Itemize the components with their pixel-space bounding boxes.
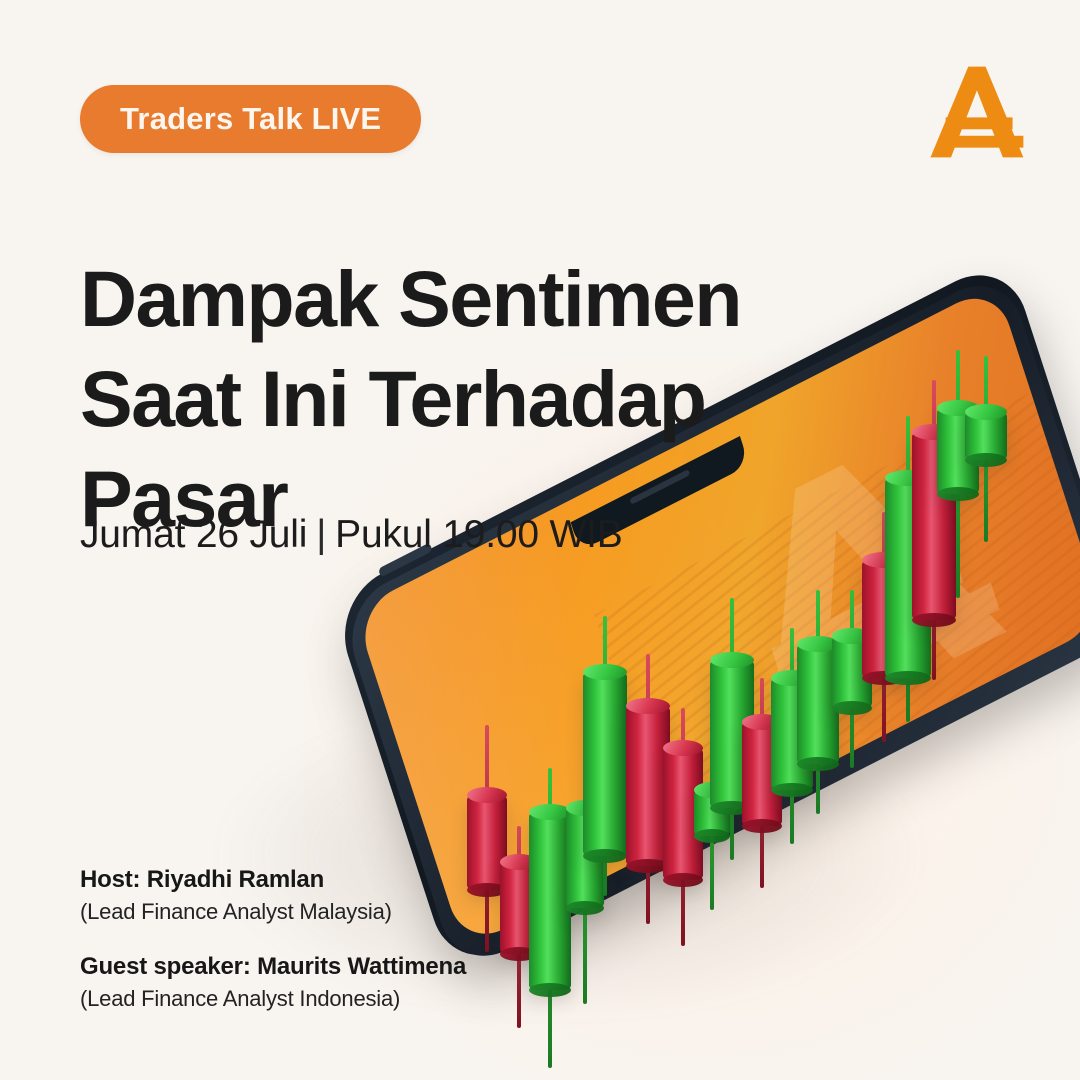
candle-top bbox=[663, 740, 703, 756]
promo-poster: Traders Talk LIVE Dampak Sentimen Saat I… bbox=[0, 0, 1080, 1080]
credits: Host: Riyadhi Ramlan (Lead Finance Analy… bbox=[80, 866, 466, 1040]
candle-body bbox=[529, 812, 571, 990]
candle-base bbox=[583, 849, 627, 863]
credit-guest-name: Guest speaker: Maurits Wattimena bbox=[80, 953, 466, 981]
candle-base bbox=[965, 453, 1007, 467]
candlestick-up bbox=[529, 768, 571, 1068]
headline-line-2: Saat Ini Terhadap bbox=[80, 349, 840, 449]
candle-top bbox=[529, 804, 571, 820]
candlestick-up bbox=[583, 616, 627, 896]
candle-top bbox=[710, 652, 754, 668]
credit-host-name: Host: Riyadhi Ramlan bbox=[80, 866, 466, 894]
schedule-line: Jumat 26 Juli|Pukul 19.00 WIB bbox=[80, 513, 623, 557]
candle-top bbox=[965, 404, 1007, 420]
candle-body bbox=[965, 412, 1007, 460]
headline-line-1: Dampak Sentimen bbox=[80, 249, 840, 349]
ascendex-a-logo-icon bbox=[924, 58, 1032, 166]
candle-base bbox=[566, 901, 604, 915]
credit-guest: Guest speaker: Maurits Wattimena (Lead F… bbox=[80, 953, 466, 1012]
candle-base bbox=[912, 613, 956, 627]
credit-host: Host: Riyadhi Ramlan (Lead Finance Analy… bbox=[80, 866, 466, 925]
live-badge-label: Traders Talk LIVE bbox=[120, 101, 381, 137]
credit-guest-role: (Lead Finance Analyst Indonesia) bbox=[80, 986, 466, 1012]
candle-base bbox=[529, 983, 571, 997]
candle-top bbox=[467, 787, 507, 803]
live-badge: Traders Talk LIVE bbox=[80, 85, 421, 153]
credit-host-role: (Lead Finance Analyst Malaysia) bbox=[80, 899, 466, 925]
candle-body bbox=[583, 672, 627, 856]
candle-top bbox=[583, 664, 627, 680]
schedule-date: Jumat 26 Juli bbox=[80, 513, 307, 556]
page-title: Dampak Sentimen Saat Ini Terhadap Pasar bbox=[80, 249, 840, 549]
schedule-time: Pukul 19.00 WIB bbox=[335, 513, 622, 556]
candlestick-up bbox=[965, 356, 1007, 542]
schedule-separator: | bbox=[307, 513, 335, 556]
